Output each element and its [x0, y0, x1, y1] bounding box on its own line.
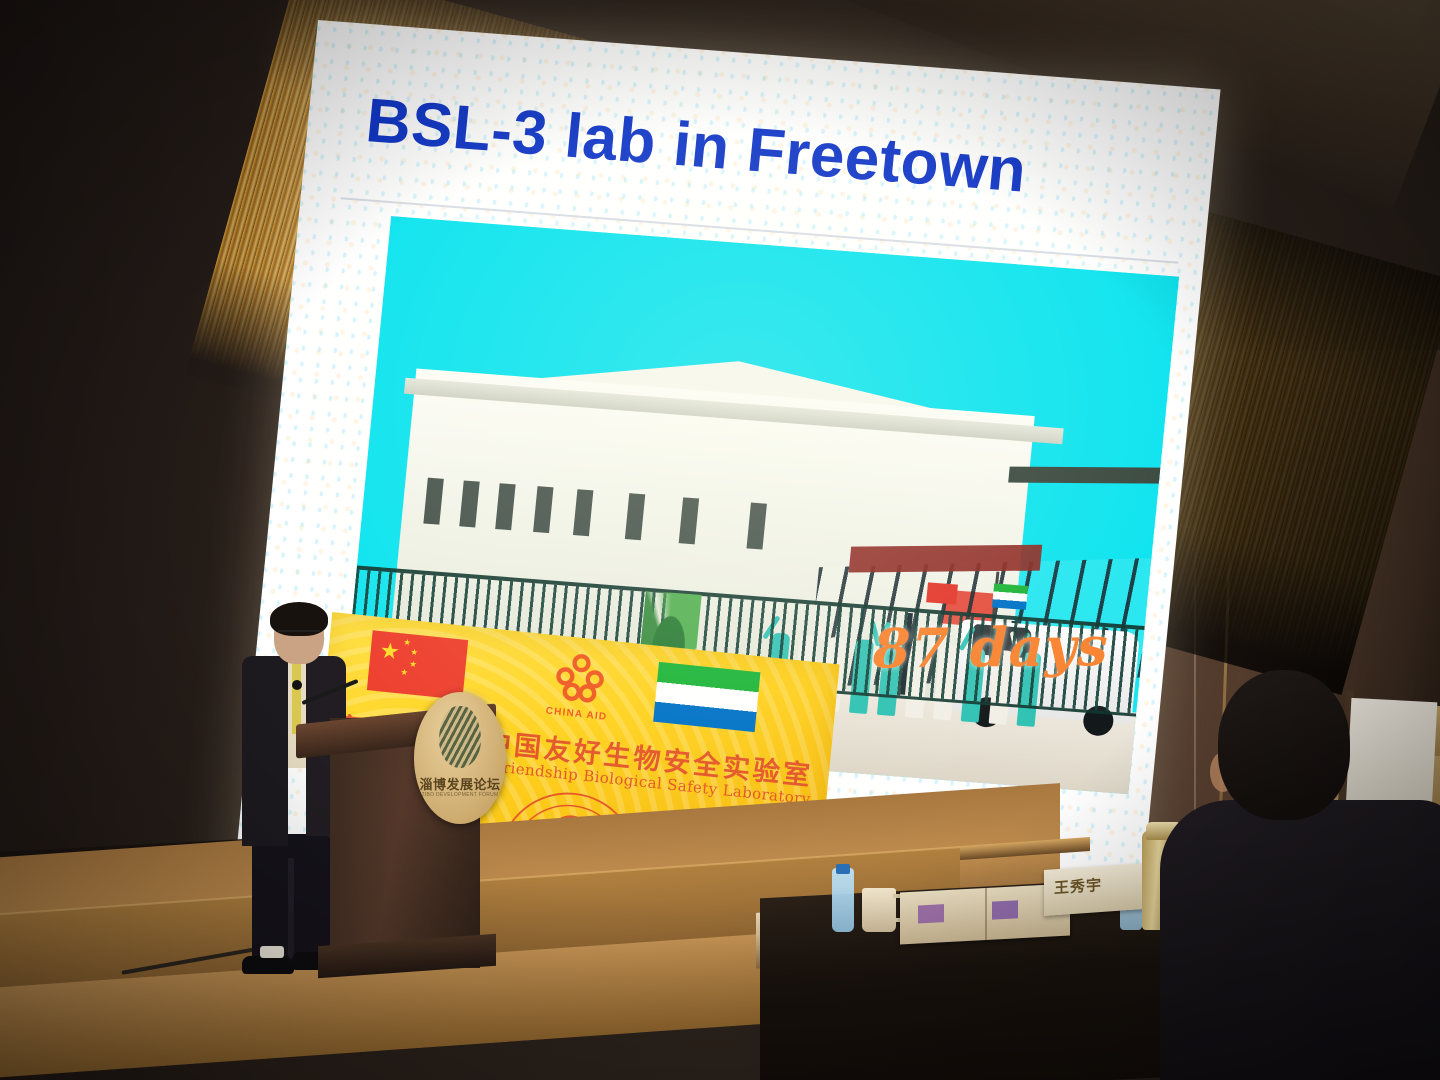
name-placard: 王秀宇: [1044, 862, 1158, 916]
presenter-jacket-left: [242, 656, 288, 846]
name-placard-text: 王秀宇: [1054, 874, 1102, 898]
water-bottle[interactable]: [832, 868, 854, 932]
presenter-leg-separation: [288, 858, 294, 964]
flag-of-china: [367, 630, 468, 700]
attendee-head: [1218, 670, 1350, 820]
podium-forum-sign: 淄博发展论坛 ZIBO DEVELOPMENT FORUM: [414, 692, 506, 824]
attendee-suit-back: [1160, 800, 1440, 1080]
photo-china-flag: [926, 582, 958, 604]
zibo-forum-emblem: [439, 706, 481, 768]
booklet-image-left: [918, 904, 944, 923]
presentation-scene: BSL-3 lab in Freetown: [0, 0, 1440, 1080]
podium-sign-chinese: 淄博发展论坛: [414, 774, 506, 793]
seated-attendee-back-view: [1170, 660, 1440, 1080]
china-aid-text: CHINA AID: [521, 703, 631, 725]
china-aid-logo: CHINA AID: [521, 646, 637, 725]
presenter-shoe-left: [242, 956, 294, 974]
days-annotation: 87 days: [872, 614, 1109, 680]
water-bottle-cap: [836, 864, 850, 874]
flag-of-sierra-leone: [653, 662, 760, 732]
presenter-glasses: [278, 630, 320, 641]
podium-sign-english: ZIBO DEVELOPMENT FORUM: [414, 792, 506, 798]
microphone-head: [292, 680, 302, 690]
china-aid-glyph: [552, 649, 609, 706]
ceramic-mug[interactable]: [862, 888, 896, 932]
entrance-red-banner: [849, 545, 1043, 573]
booklet-image-right: [992, 900, 1018, 919]
photo-sierra-leone-flag: [992, 583, 1028, 609]
presenter-sock: [260, 946, 284, 958]
building-awning: [1008, 467, 1179, 484]
